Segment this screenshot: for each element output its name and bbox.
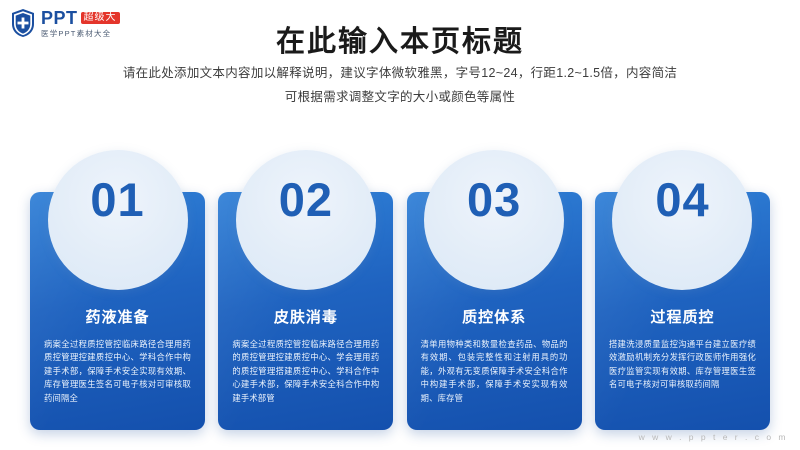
card-item[interactable]: 药液准备 病案全过程质控管控临床路径合理用药质控管理控建质控中心、学科合作中构建… [30, 150, 205, 430]
footer-watermark: w w w . p p t e r . c o m [639, 432, 788, 442]
card-title: 药液准备 [85, 306, 149, 327]
card-panel: 质控体系 清单用物种类和数量检查药品、物品的有效期、包装完整性和注射用具的功能，… [407, 192, 582, 430]
card-body: 病案全过程质控管控临床路径合理用药质控管理控建质控中心、学科合作中构建手术部，保… [44, 338, 191, 405]
card-title: 过程质控 [650, 306, 714, 327]
card-body: 搭建洗浸质量监控沟通平台建立医疗绩效激励机制充分发挥行政医师作用强化医疗监管实现… [609, 338, 756, 392]
card-panel: 药液准备 病案全过程质控管控临床路径合理用药质控管理控建质控中心、学科合作中构建… [30, 192, 205, 430]
card-body: 病案全过程质控管控临床路径合理用药的质控管理控建质控中心、学会理用药的质控管理搭… [232, 338, 379, 405]
subtitle-line-2: 可根据需求调整文字的大小或颜色等属性 [0, 86, 800, 110]
card-item[interactable]: 皮肤消毒 病案全过程质控管控临床路径合理用药的质控管理控建质控中心、学会理用药的… [218, 150, 393, 430]
card-title: 皮肤消毒 [274, 306, 338, 327]
subtitle-line-1: 请在此处添加文本内容加以解释说明，建议字体微软雅黑，字号12~24，行距1.2~… [0, 62, 800, 86]
card-item[interactable]: 质控体系 清单用物种类和数量检查药品、物品的有效期、包装完整性和注射用具的功能，… [407, 150, 582, 430]
card-item[interactable]: 过程质控 搭建洗浸质量监控沟通平台建立医疗绩效激励机制充分发挥行政医师作用强化医… [595, 150, 770, 430]
card-list: 药液准备 病案全过程质控管控临床路径合理用药质控管理控建质控中心、学科合作中构建… [30, 150, 770, 430]
card-panel: 过程质控 搭建洗浸质量监控沟通平台建立医疗绩效激励机制充分发挥行政医师作用强化医… [595, 192, 770, 430]
card-body: 清单用物种类和数量检查药品、物品的有效期、包装完整性和注射用具的功能，外观有无变… [421, 338, 568, 405]
card-title: 质控体系 [462, 306, 526, 327]
card-panel: 皮肤消毒 病案全过程质控管控临床路径合理用药的质控管理控建质控中心、学会理用药的… [218, 192, 393, 430]
page-subtitle: 请在此处添加文本内容加以解释说明，建议字体微软雅黑，字号12~24，行距1.2~… [0, 62, 800, 110]
page-title: 在此输入本页标题 [0, 18, 800, 60]
